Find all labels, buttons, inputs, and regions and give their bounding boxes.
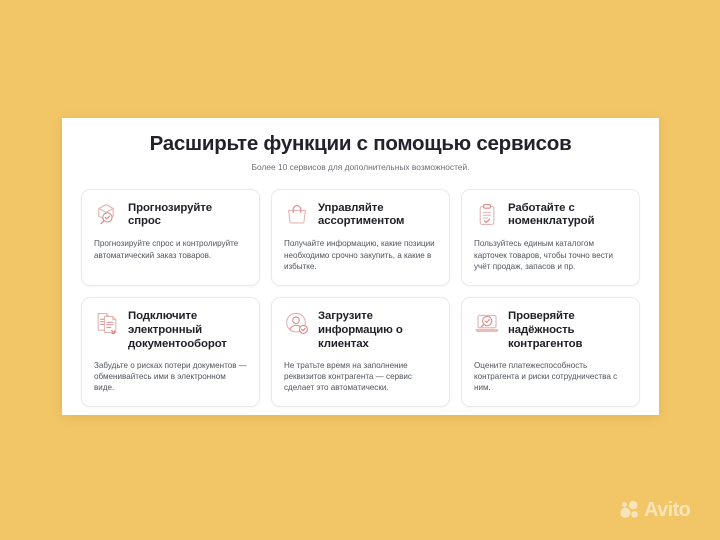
card-head: Загрузите информацию о клиентах [284, 309, 437, 352]
box-search-check-icon [94, 202, 120, 228]
card-title: Проверяйте надёжность контрагентов [508, 309, 627, 352]
card-body: Пользуйтесь единым каталогом карточек то… [474, 238, 627, 272]
clipboard-check-icon [474, 202, 500, 228]
card-head: Проверяйте надёжность контрагентов [474, 309, 627, 352]
card-head: Работайте с номенклатурой [474, 201, 627, 230]
page-title: Расширьте функции с помощью сервисов [62, 132, 659, 157]
service-card-edo[interactable]: Подключите электронный документооборот З… [81, 297, 260, 407]
card-head: Управляйте ассортиментом [284, 201, 437, 230]
laptop-search-check-icon [474, 310, 500, 336]
services-card-grid: Прогнозируйте спрос Прогнозируйте спрос … [62, 173, 659, 407]
service-card-counterparty-check[interactable]: Проверяйте надёжность контрагентов Оцени… [461, 297, 640, 407]
service-card-demand-forecast[interactable]: Прогнозируйте спрос Прогнозируйте спрос … [81, 189, 260, 286]
card-title: Работайте с номенклатурой [508, 201, 627, 230]
card-head: Подключите электронный документооборот [94, 309, 247, 352]
card-body: Получайте информацию, какие позиции необ… [284, 238, 437, 272]
service-card-assortment[interactable]: Управляйте ассортиментом Получайте инфор… [271, 189, 450, 286]
card-title: Прогнозируйте спрос [128, 201, 247, 230]
page-subtitle: Более 10 сервисов для дополнительных воз… [62, 162, 659, 173]
card-body: Забудьте о рисках потери документов — об… [94, 360, 247, 394]
card-body: Оцените платежеспособность контрагента и… [474, 360, 627, 394]
avito-wordmark: Avito [644, 500, 690, 520]
services-panel: Расширьте функции с помощью сервисов Бол… [62, 118, 659, 415]
service-card-clients[interactable]: Загрузите информацию о клиентах Не трать… [271, 297, 450, 407]
user-check-icon [284, 310, 310, 336]
card-title: Управляйте ассортиментом [318, 201, 437, 230]
card-body: Прогнозируйте спрос и контролируйте авто… [94, 238, 247, 261]
document-exchange-icon [94, 310, 120, 336]
card-title: Подключите электронный документооборот [128, 309, 247, 352]
avito-dots-icon [620, 500, 640, 520]
card-body: Не тратьте время на заполнение реквизито… [284, 360, 437, 394]
shopping-bag-icon [284, 202, 310, 228]
screenshot-stage: Расширьте функции с помощью сервисов Бол… [0, 0, 720, 540]
card-head: Прогнозируйте спрос [94, 201, 247, 230]
panel-header: Расширьте функции с помощью сервисов Бол… [62, 118, 659, 173]
avito-watermark: Avito [620, 500, 690, 520]
service-card-nomenclature[interactable]: Работайте с номенклатурой Пользуйтесь ед… [461, 189, 640, 286]
card-title: Загрузите информацию о клиентах [318, 309, 437, 352]
